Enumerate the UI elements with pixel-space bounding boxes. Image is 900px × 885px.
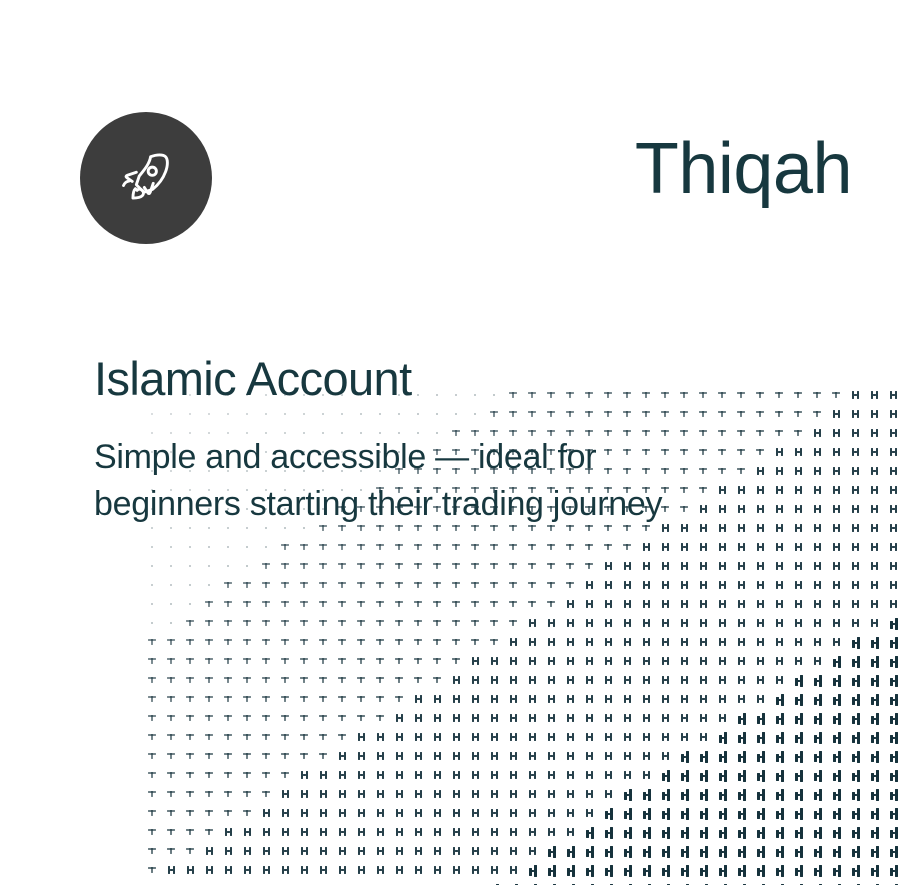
- page-subtitle-line-1: Simple and accessible — ideal for: [94, 434, 734, 481]
- brand-name: Thiqah: [635, 133, 852, 205]
- page-subtitle: Simple and accessible — ideal for beginn…: [94, 434, 734, 528]
- brand-badge: [80, 112, 212, 244]
- page-title: Islamic Account: [94, 353, 412, 405]
- rocket-icon: [117, 149, 175, 207]
- page-subtitle-line-2: beginners starting their trading journey: [94, 481, 734, 528]
- promo-card: Thiqah Islamic Account Simple and access…: [0, 0, 900, 885]
